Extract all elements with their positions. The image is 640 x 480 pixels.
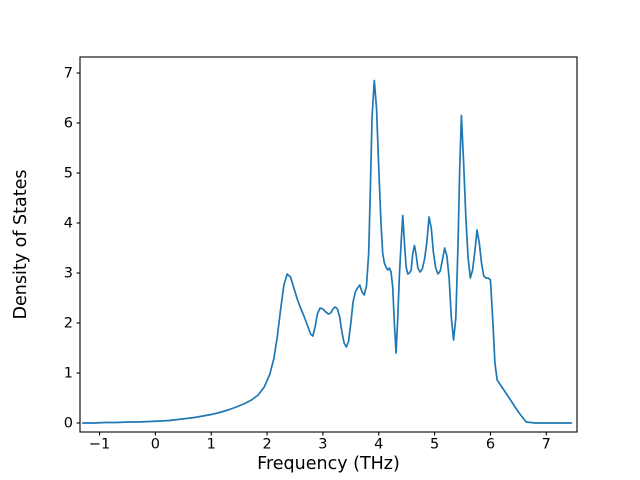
- x-tick-label: 3: [318, 437, 327, 453]
- x-tick-label: −1: [89, 437, 110, 453]
- dos-curve-line: [83, 81, 572, 424]
- x-axis-label: Frequency (THz): [257, 454, 400, 474]
- y-tick-label: 7: [64, 66, 73, 82]
- y-tick-label: 2: [64, 316, 73, 332]
- x-tick-label: 4: [374, 437, 383, 453]
- x-tick-label: 2: [262, 437, 271, 453]
- y-tick-label: 6: [64, 116, 73, 132]
- axes-frame: [80, 57, 577, 432]
- x-tick-label: 5: [430, 437, 439, 453]
- dos-plot: −101234567 01234567 Frequency (THz) Dens…: [0, 0, 640, 480]
- x-tick-label: 0: [151, 437, 160, 453]
- y-tick-label: 1: [64, 366, 73, 382]
- axes-spines: [80, 57, 577, 432]
- y-tick-label: 4: [64, 216, 73, 232]
- x-tick-label: 6: [486, 437, 495, 453]
- y-tick-label: 3: [64, 266, 73, 282]
- y-tick-label: 5: [64, 166, 73, 182]
- x-tick-label: 7: [542, 437, 551, 453]
- figure-canvas: −101234567 01234567 Frequency (THz) Dens…: [0, 0, 640, 480]
- x-axis-ticks: −101234567: [89, 432, 551, 453]
- x-tick-label: 1: [207, 437, 216, 453]
- y-axis-ticks: 01234567: [64, 66, 80, 432]
- y-axis-label: Density of States: [11, 170, 31, 320]
- y-tick-label: 0: [64, 416, 73, 432]
